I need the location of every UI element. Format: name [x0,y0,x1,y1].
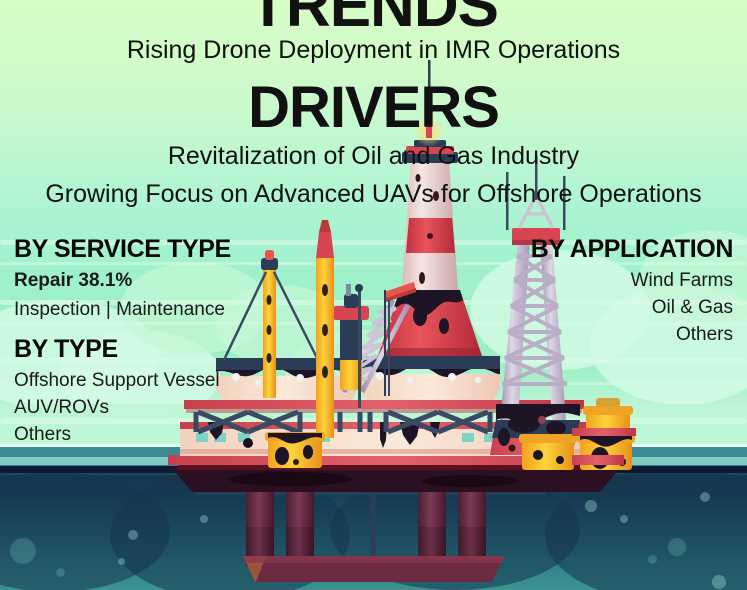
drivers-title: DRIVERS [0,78,747,138]
by-type-item-2: Others [14,422,220,447]
by-application-item-2: Others [531,322,733,347]
trends-title: TRENDS [0,0,747,38]
underwater-support-structure [196,482,546,582]
by-type-item-0: Offshore Support Vessel [14,368,220,393]
center-equipment-pod [360,356,500,400]
by-application-item-1: Oil & Gas [531,295,733,320]
by-type-item-1: AUV/ROVs [14,395,220,420]
by-application-item-0: Wind Farms [531,268,733,293]
by-type-heading: BY TYPE [14,334,220,364]
by-service-type-highlight: Repair 38.1% [14,268,231,293]
drivers-point-2: Growing Focus on Advanced UAVs for Offsh… [0,180,747,208]
by-type-group: BY TYPE Offshore Support Vessel AUV/ROVs… [14,334,220,439]
infographic-canvas: TRENDS Rising Drone Deployment in IMR Op… [0,0,747,590]
by-application-heading: BY APPLICATION [531,234,733,264]
by-application-group: BY APPLICATION Wind Farms Oil & Gas Othe… [531,234,733,339]
drivers-point-1: Revitalization of Oil and Gas Industry [0,142,747,170]
storage-tank-left [265,432,325,468]
by-service-type-heading: BY SERVICE TYPE [14,234,231,264]
trends-subtitle: Rising Drone Deployment in IMR Operation… [0,36,747,64]
by-service-type-group: BY SERVICE TYPE Repair 38.1% Inspection … [14,234,231,314]
storage-tank-right-lower-a [519,434,577,470]
by-service-type-items: Inspection | Maintenance [14,297,231,322]
